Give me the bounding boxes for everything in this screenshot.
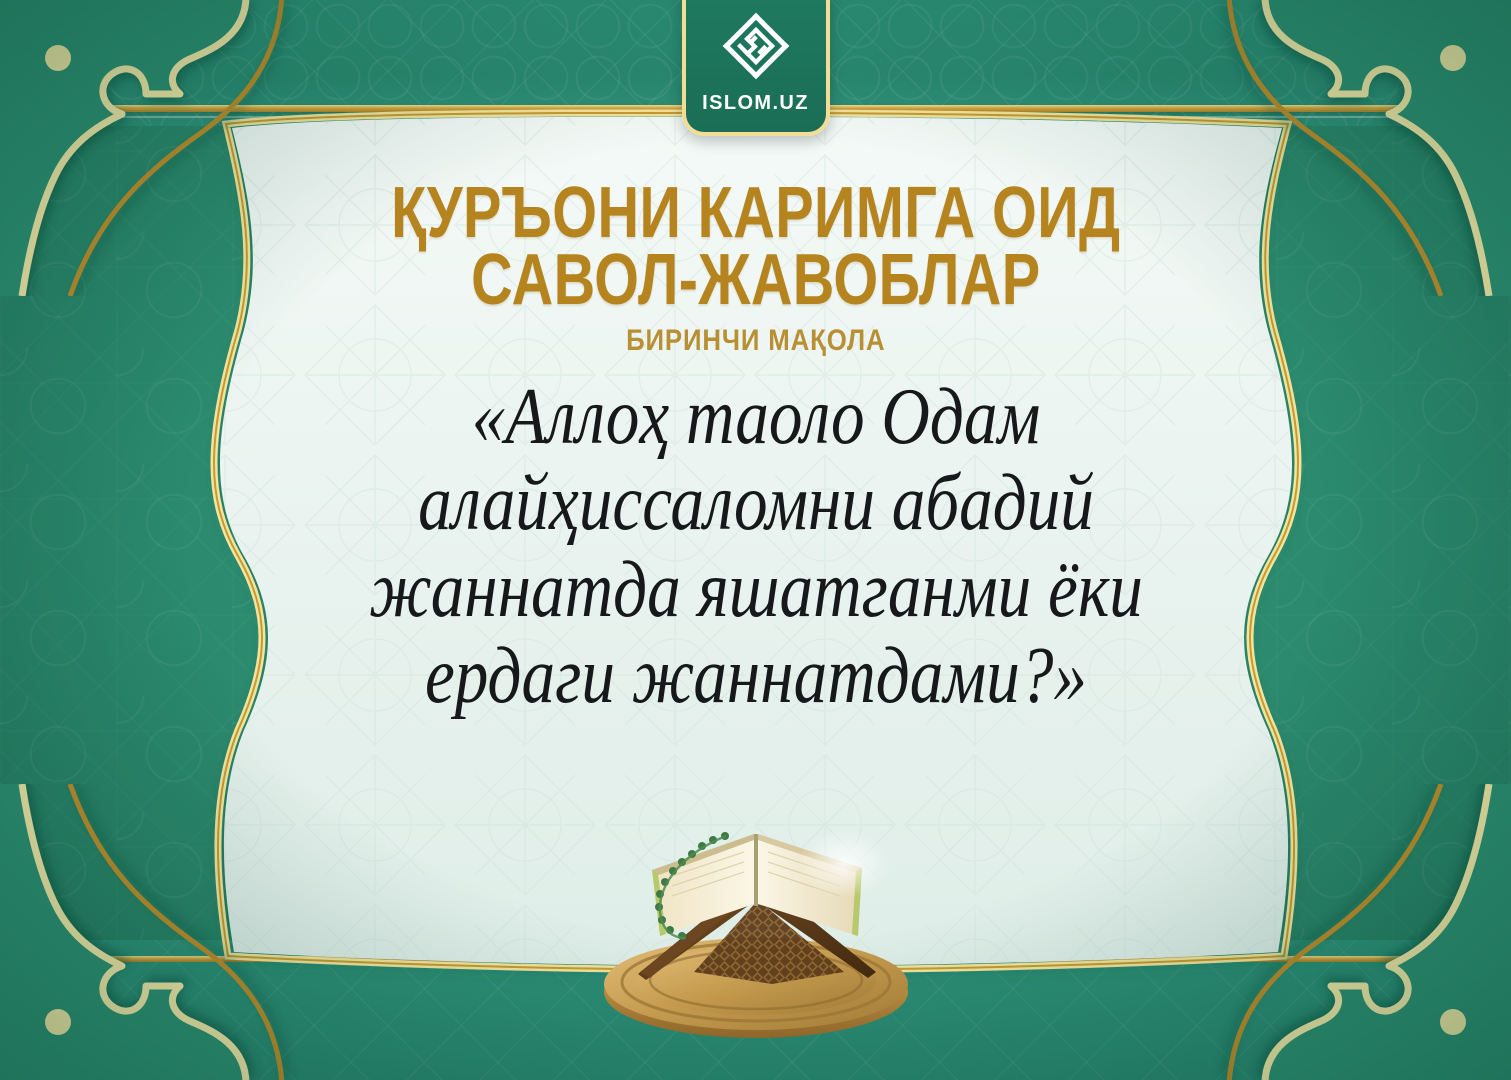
quote-block: «Аллоҳ таоло Одам алайҳиссаломни абадий … [289,374,1221,720]
quote-line-3: жаннатда яшатганми ёки [289,547,1221,633]
poster-canvas: ISLOM.UZ ҚУРЪОНИ КАРИМГА ОИД САВОЛ-ЖАВОБ… [0,0,1511,1080]
page-title: ҚУРЪОНИ КАРИМГА ОИД САВОЛ-ЖАВОБЛАР [391,180,1120,314]
quote-line-1: «Аллоҳ таоло Одам [289,374,1221,460]
open-quran-on-rihal-icon [576,796,936,1046]
brand-name: ISLOM.UZ [702,92,809,115]
brand-badge[interactable]: ISLOM.UZ [682,0,830,136]
quote-line-2: алайҳиссаломни абадий [289,460,1221,546]
page-subtitle: БИРИНЧИ МАҚОЛА [626,324,885,358]
page-title-line-2: САВОЛ-ЖАВОБЛАР [391,247,1120,314]
quote-line-4: ердаги жаннатдами?» [289,633,1221,719]
kufic-square-calligraphy-icon [714,4,798,88]
